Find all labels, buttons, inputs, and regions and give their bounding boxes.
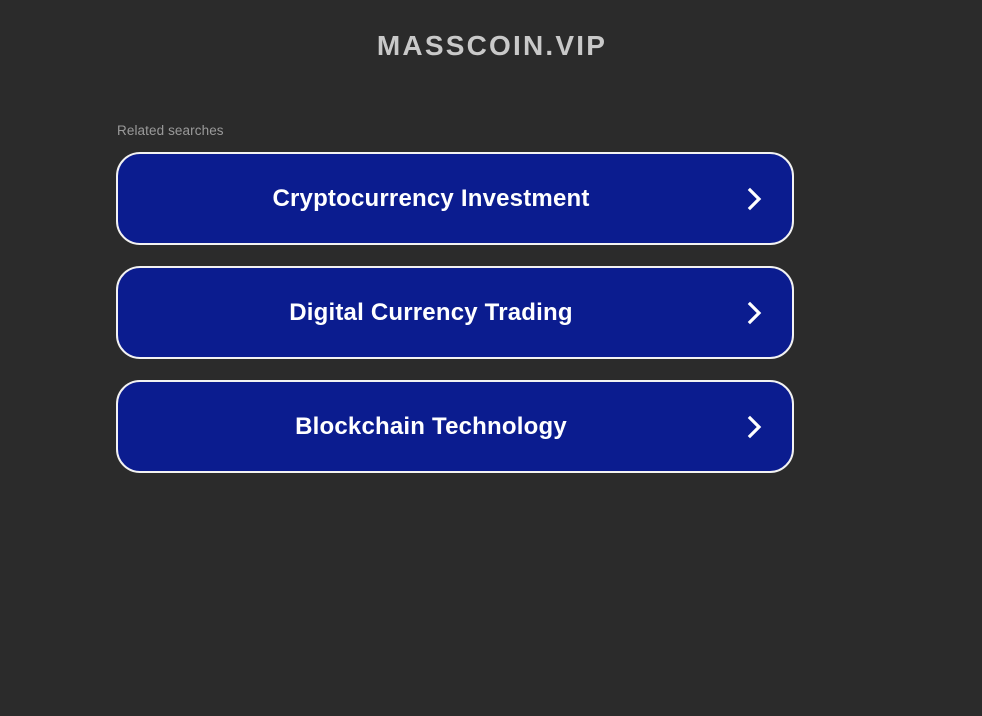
page-title: MASSCOIN.VIP <box>375 32 607 60</box>
list-item: Digital Currency Trading <box>116 266 794 359</box>
chevron-right-icon <box>744 184 766 214</box>
related-search-card-blockchain-technology[interactable]: Blockchain Technology <box>116 380 794 473</box>
related-search-label: Cryptocurrency Investment <box>150 185 712 213</box>
related-searches-section: Related searches Cryptocurrency Investme… <box>116 122 794 473</box>
related-search-label: Digital Currency Trading <box>150 299 712 327</box>
site-header: MASSCOIN.VIP <box>0 0 982 92</box>
related-search-card-digital-currency-trading[interactable]: Digital Currency Trading <box>116 266 794 359</box>
related-searches-list: Cryptocurrency Investment Digital Curren… <box>116 152 794 473</box>
chevron-right-icon <box>744 298 766 328</box>
related-searches-label: Related searches <box>117 122 794 140</box>
chevron-right-icon <box>744 412 766 442</box>
related-search-card-cryptocurrency-investment[interactable]: Cryptocurrency Investment <box>116 152 794 245</box>
related-search-label: Blockchain Technology <box>150 413 712 441</box>
list-item: Cryptocurrency Investment <box>116 152 794 245</box>
list-item: Blockchain Technology <box>116 380 794 473</box>
page-root: MASSCOIN.VIP Related searches Cryptocurr… <box>0 0 982 716</box>
